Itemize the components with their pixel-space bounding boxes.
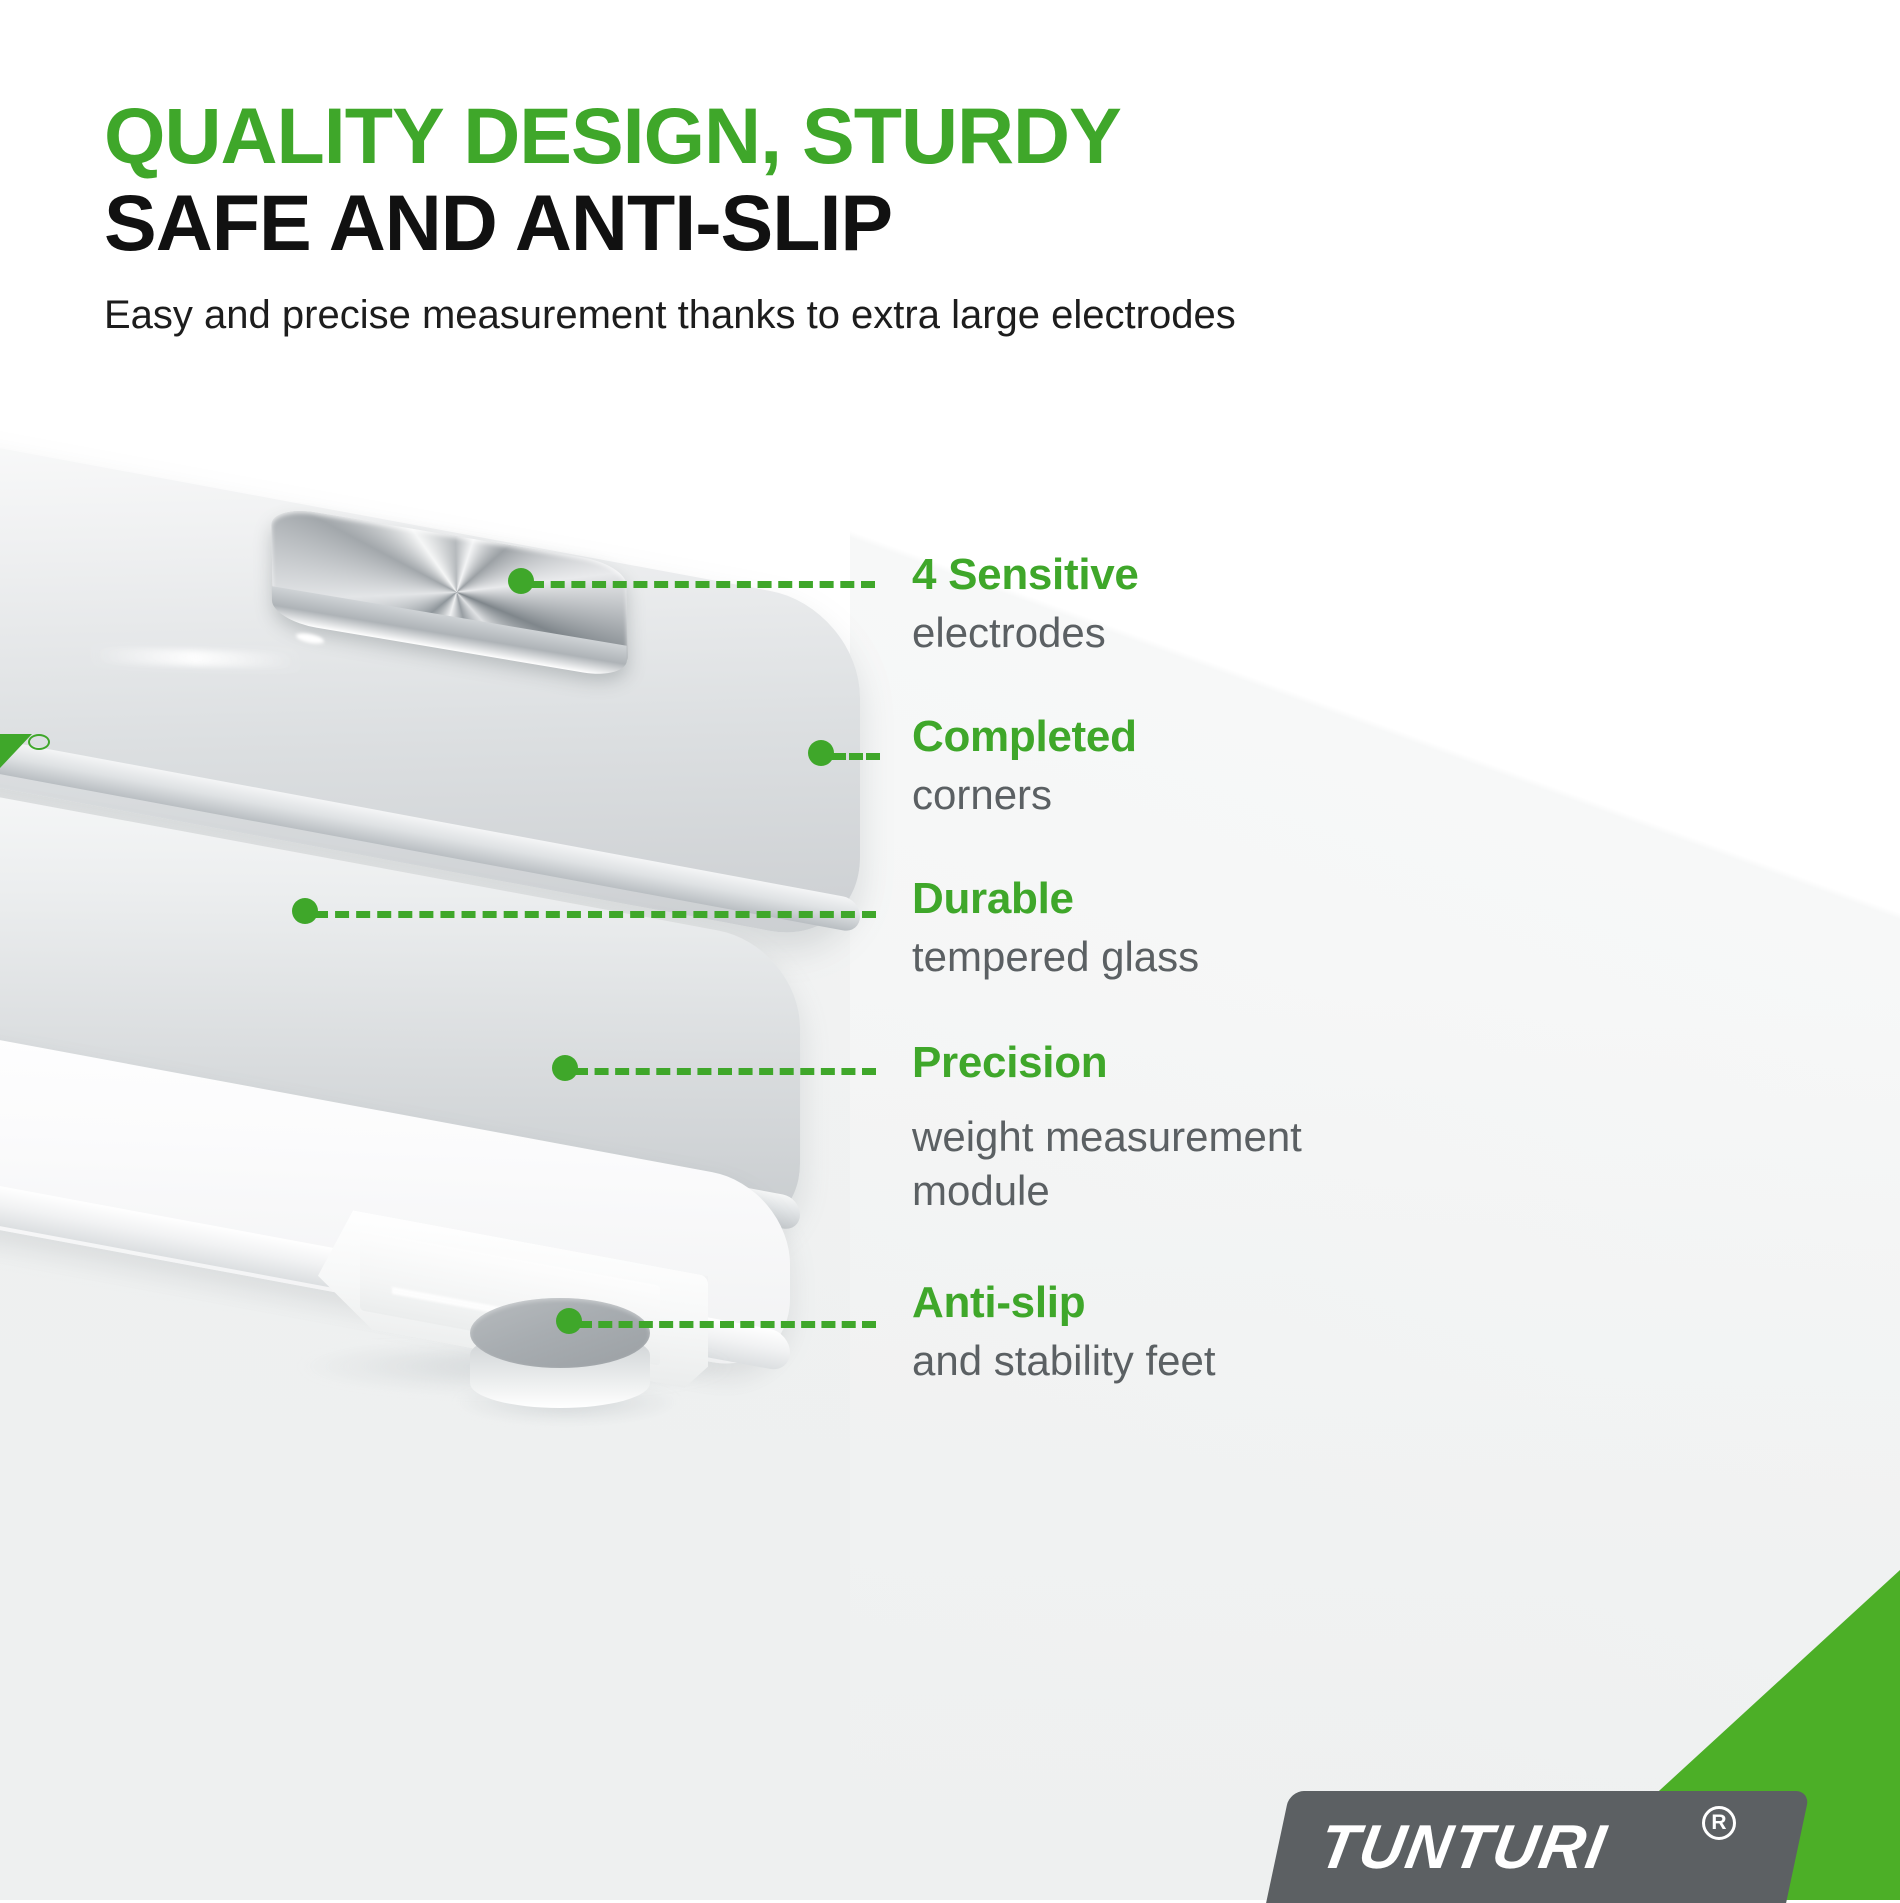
callout-durable: Durable tempered glass — [912, 876, 1199, 984]
callout-electrodes-title: 4 Sensitive — [912, 552, 1139, 598]
product-illustration — [0, 440, 1000, 1600]
callout-precision: Precision weight measurement module — [912, 1040, 1432, 1218]
callout-corners-title: Completed — [912, 714, 1137, 760]
brand-registered-icon: R — [1702, 1806, 1736, 1840]
anti-slip-foot-top — [470, 1298, 650, 1368]
callout-antislip-sub: and stability feet — [912, 1334, 1216, 1388]
callout-antislip-title: Anti-slip — [912, 1280, 1216, 1326]
callout-precision-title: Precision — [912, 1040, 1432, 1086]
headline-line-1: QUALITY DESIGN, STURDY — [104, 96, 1554, 177]
callout-electrodes: 4 Sensitive electrodes — [912, 552, 1139, 660]
tunturi-triangle-logo-icon — [0, 728, 56, 772]
callout-durable-title: Durable — [912, 876, 1199, 922]
callout-electrodes-sub: electrodes — [912, 606, 1139, 660]
registered-mark-icon — [28, 734, 50, 750]
header-block: QUALITY DESIGN, STURDY SAFE AND ANTI-SLI… — [104, 96, 1554, 339]
callout-corners-sub: corners — [912, 768, 1137, 822]
brand-logo-text: TUNTURI — [1314, 1812, 1613, 1883]
callout-antislip: Anti-slip and stability feet — [912, 1280, 1216, 1388]
headline-line-2: SAFE AND ANTI-SLIP — [104, 183, 1554, 264]
callout-precision-sub: weight measurement module — [912, 1110, 1432, 1218]
callout-corners: Completed corners — [912, 714, 1137, 822]
callout-durable-sub: tempered glass — [912, 930, 1199, 984]
subheadline: Easy and precise measurement thanks to e… — [104, 291, 1554, 339]
